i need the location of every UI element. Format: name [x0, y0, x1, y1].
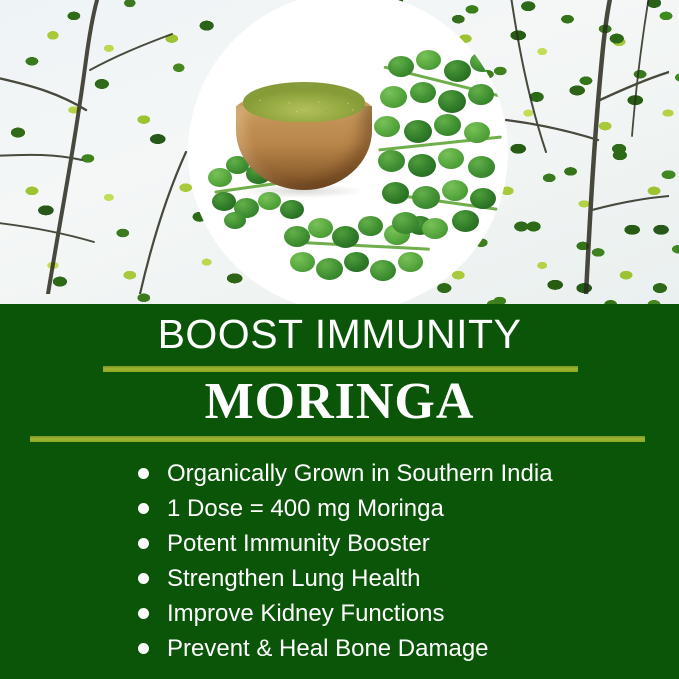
page-title: BOOST IMMUNITY — [0, 314, 679, 355]
list-item: Potent Immunity Booster — [138, 526, 658, 561]
bullet-icon — [138, 608, 149, 619]
list-item: 1 Dose = 400 mg Moringa — [138, 491, 658, 526]
benefit-label: 1 Dose = 400 mg Moringa — [167, 497, 444, 521]
bullet-icon — [138, 573, 149, 584]
bullet-icon — [138, 503, 149, 514]
product-infographic-poster: BOOST IMMUNITY MORINGA Organically Grown… — [0, 0, 679, 679]
brand-name: MORINGA — [0, 376, 679, 428]
divider-bottom — [30, 436, 645, 442]
list-item: Organically Grown in Southern India — [138, 456, 658, 491]
benefit-label: Organically Grown in Southern India — [167, 462, 553, 486]
list-item: Prevent & Heal Bone Damage — [138, 631, 658, 666]
product-photo-circle — [188, 0, 508, 304]
green-info-panel: BOOST IMMUNITY MORINGA Organically Grown… — [0, 304, 679, 679]
bullet-icon — [138, 538, 149, 549]
divider-top — [103, 366, 578, 372]
moringa-powder-bowl — [236, 88, 372, 192]
benefits-list: Organically Grown in Southern India 1 Do… — [138, 456, 658, 666]
leaf-sprig-right — [362, 50, 508, 250]
benefit-label: Prevent & Heal Bone Damage — [167, 637, 489, 661]
moringa-tree-photo — [0, 0, 679, 304]
moringa-powder — [243, 82, 365, 122]
benefit-label: Strengthen Lung Health — [167, 567, 421, 591]
benefit-label: Improve Kidney Functions — [167, 602, 444, 626]
bullet-icon — [138, 643, 149, 654]
benefit-label: Potent Immunity Booster — [167, 532, 430, 556]
list-item: Strengthen Lung Health — [138, 561, 658, 596]
bullet-icon — [138, 468, 149, 479]
powder-texture — [243, 82, 365, 122]
list-item: Improve Kidney Functions — [138, 596, 658, 631]
